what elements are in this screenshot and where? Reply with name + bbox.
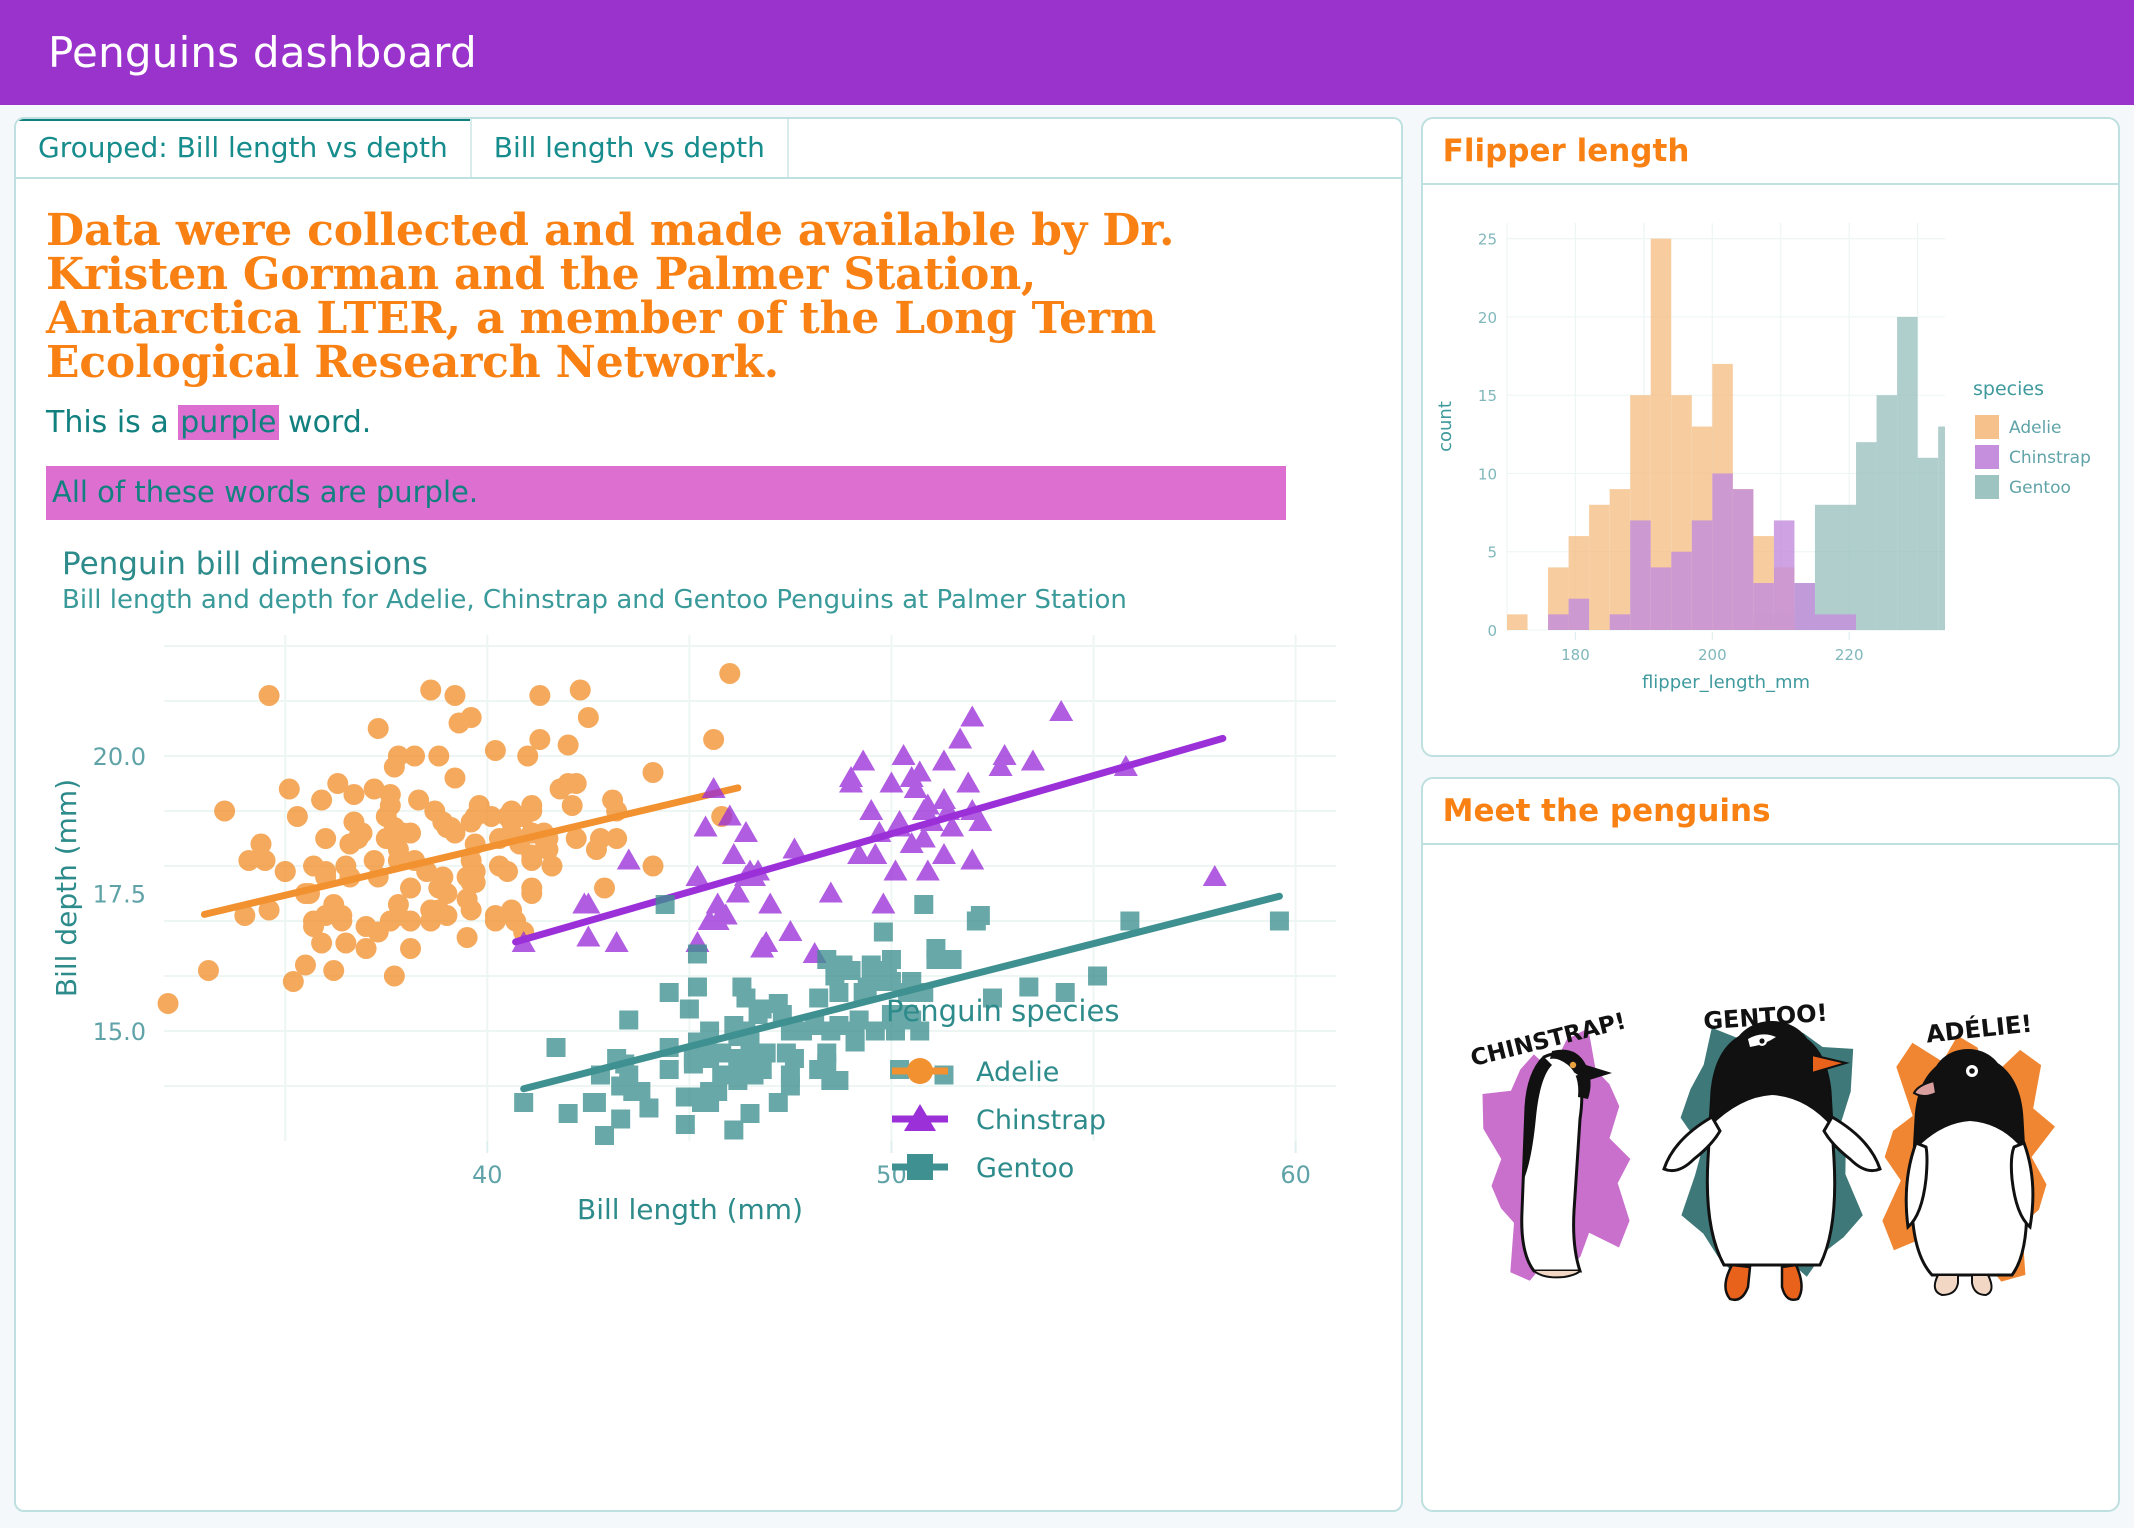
purple-word-line: This is a purple word.: [46, 405, 1371, 440]
scatter-x-axis-title: Bill length (mm): [577, 1193, 803, 1226]
penguin-gentoo: [1664, 1021, 1880, 1300]
penguin-illustration: CHINSTRAP!GENTOO!ADÉLIE!: [1440, 859, 2100, 1359]
card-header-flipper-length: Flipper length: [1423, 119, 2118, 185]
hist-y-tick: 5: [1487, 544, 1497, 562]
scatter-legend-title: Penguin species: [886, 994, 1119, 1028]
hist-legend-swatch-chinstrap: [1975, 445, 1999, 469]
hist-legend-label-chinstrap: Chinstrap: [2009, 448, 2091, 468]
hist-legend-swatch-gentoo: [1975, 475, 1999, 499]
hist-x-tick: 180: [1561, 646, 1590, 664]
scatter-y-tick: 20.0: [93, 743, 146, 771]
scatter-x-tick: 40: [472, 1161, 503, 1189]
card-body-flipper-length: 0510152025180200220flipper_length_mmcoun…: [1423, 185, 2118, 714]
penguin-label-adelie: ADÉLIE!: [1925, 1009, 2034, 1049]
tab-strip: Grouped: Bill length vs depth Bill lengt…: [16, 119, 1401, 179]
trendline-gentoo: [524, 896, 1280, 1089]
hist-x-tick: 220: [1835, 646, 1864, 664]
hist-x-axis-title: flipper_length_mm: [1642, 672, 1810, 693]
card-title: Meet the penguins: [1443, 793, 1771, 829]
card-body-meet-penguins: CHINSTRAP!GENTOO!ADÉLIE!: [1423, 845, 2118, 1369]
left-column: Grouped: Bill length vs depth Bill lengt…: [14, 117, 1403, 1512]
app-header: Penguins dashboard: [0, 0, 2134, 105]
right-column: Flipper length 0510152025180200220flippe…: [1421, 117, 2120, 1512]
scatter-plot: 15.017.520.0405060Bill length (mm)Bill d…: [46, 621, 1371, 1500]
hist-legend-label-gentoo: Gentoo: [2009, 478, 2071, 498]
card-flipper-length: Flipper length 0510152025180200220flippe…: [1421, 117, 2120, 757]
scatter-plot-subtitle: Bill length and depth for Adelie, Chinst…: [62, 585, 1222, 615]
hist-y-tick: 25: [1478, 231, 1497, 249]
scatter-y-tick: 17.5: [93, 881, 146, 909]
hist-y-axis-title: count: [1435, 401, 1456, 452]
tab-bill-length-vs-depth[interactable]: Bill length vs depth: [472, 117, 789, 177]
hist-legend-title: species: [1973, 378, 2044, 400]
scatter-legend-label-gentoo: Gentoo: [976, 1153, 1074, 1184]
scatter-x-tick: 60: [1280, 1161, 1311, 1189]
scatter-series-adelie: [158, 663, 741, 1014]
card-title: Flipper length: [1443, 133, 1690, 169]
tab-label: Bill length vs depth: [494, 131, 765, 164]
purple-word-after: word.: [279, 405, 372, 440]
scatter-y-axis-title: Bill depth (mm): [50, 779, 83, 997]
flipper-histogram-svg: 0510152025180200220flipper_length_mmcoun…: [1433, 199, 2105, 704]
card-meet-the-penguins: Meet the penguins CHINSTRAP!GENTOO!ADÉLI…: [1421, 777, 2120, 1512]
tab-panel-grouped: Data were collected and made available b…: [16, 179, 1401, 1510]
app-title: Penguins dashboard: [0, 28, 477, 77]
tab-card: Grouped: Bill length vs depth Bill lengt…: [14, 117, 1403, 1512]
penguin-label-gentoo: GENTOO!: [1703, 999, 1829, 1036]
hist-y-tick: 0: [1487, 622, 1497, 640]
hist-y-tick: 10: [1478, 465, 1497, 483]
scatter-plot-svg: 15.017.520.0405060Bill length (mm)Bill d…: [46, 621, 1356, 1231]
penguin-adelie: [1907, 1049, 2034, 1295]
scatter-legend-label-adelie: Adelie: [976, 1057, 1059, 1088]
purple-word-before: This is a: [46, 405, 178, 440]
dashboard-body: Grouped: Bill length vs depth Bill lengt…: [0, 105, 2134, 1528]
dashboard-page: Penguins dashboard Grouped: Bill length …: [0, 0, 2134, 1528]
hist-legend-label-adelie: Adelie: [2009, 418, 2062, 438]
purple-band: All of these words are purple.: [46, 466, 1286, 520]
scatter-plot-title: Penguin bill dimensions: [62, 546, 1371, 582]
scatter-legend-label-chinstrap: Chinstrap: [976, 1105, 1106, 1136]
hist-y-tick: 20: [1478, 309, 1497, 327]
scatter-y-tick: 15.0: [93, 1018, 146, 1046]
hist-y-tick: 15: [1478, 387, 1497, 405]
hero-attribution-text: Data were collected and made available b…: [46, 209, 1276, 385]
purple-word-highlight: purple: [178, 405, 278, 440]
tab-grouped-bill-length-vs-depth[interactable]: Grouped: Bill length vs depth: [16, 117, 472, 177]
hist-legend-swatch-adelie: [1975, 415, 1999, 439]
hist-x-tick: 200: [1698, 646, 1727, 664]
tab-label: Grouped: Bill length vs depth: [38, 131, 448, 164]
card-header-meet-penguins: Meet the penguins: [1423, 779, 2118, 845]
